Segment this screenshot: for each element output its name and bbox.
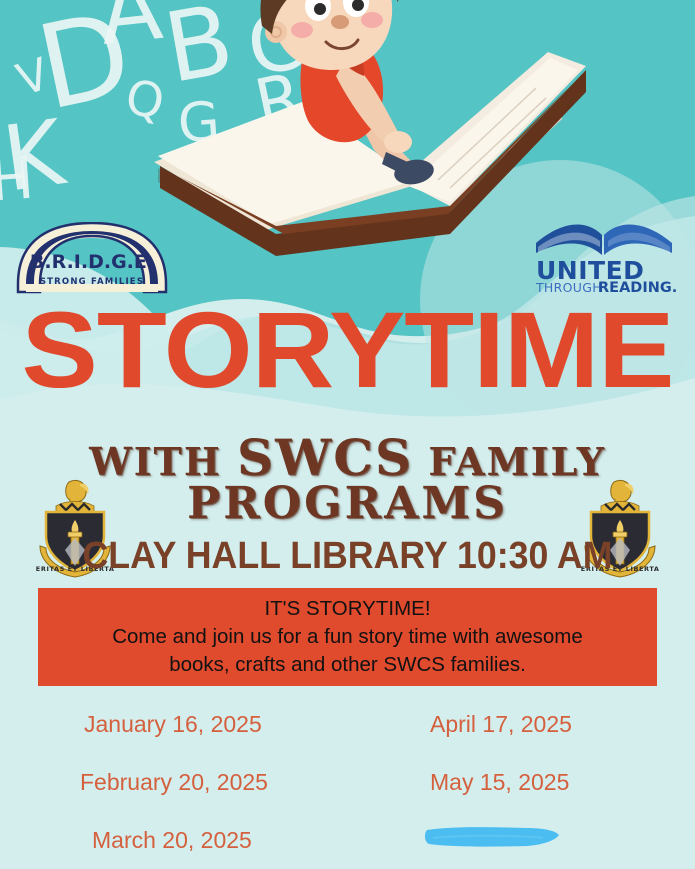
callout-heading: IT'S STORYTIME! xyxy=(38,595,657,623)
storytime-flyer: A V D K Q B C R G O H xyxy=(0,0,695,869)
venue-and-time: CLAY HALL LIBRARY 10:30 AM xyxy=(21,534,674,578)
page-title: STORYTIME xyxy=(0,296,695,404)
date-february: February 20, 2025 xyxy=(80,769,268,796)
bridge-logo: B.R.I.D.G.E. STRONG FAMILIES xyxy=(16,222,168,294)
open-book-icon xyxy=(536,225,672,255)
callout-line-1: Come and join us for a fun story time wi… xyxy=(38,623,657,651)
date-january: January 16, 2025 xyxy=(84,711,262,738)
date-march: March 20, 2025 xyxy=(92,827,252,854)
callout-line-2: books, crafts and other SWCS families. xyxy=(38,651,657,679)
date-april: April 17, 2025 xyxy=(430,711,572,738)
united-through-reading-logo: UNITED THROUGH READING. xyxy=(528,213,680,293)
dates-list: January 16, 2025 February 20, 2025 March… xyxy=(0,703,695,869)
redaction-highlight-mark xyxy=(423,824,561,849)
boy-reading-on-book-illustration xyxy=(150,0,590,265)
date-may: May 15, 2025 xyxy=(430,769,569,796)
subtitle-programs: PROGRAMS xyxy=(0,478,695,529)
bridge-logo-tagline: STRONG FAMILIES xyxy=(40,277,144,287)
callout-box: IT'S STORYTIME! Come and join us for a f… xyxy=(38,588,657,686)
bridge-logo-name: B.R.I.D.G.E. xyxy=(30,251,154,273)
